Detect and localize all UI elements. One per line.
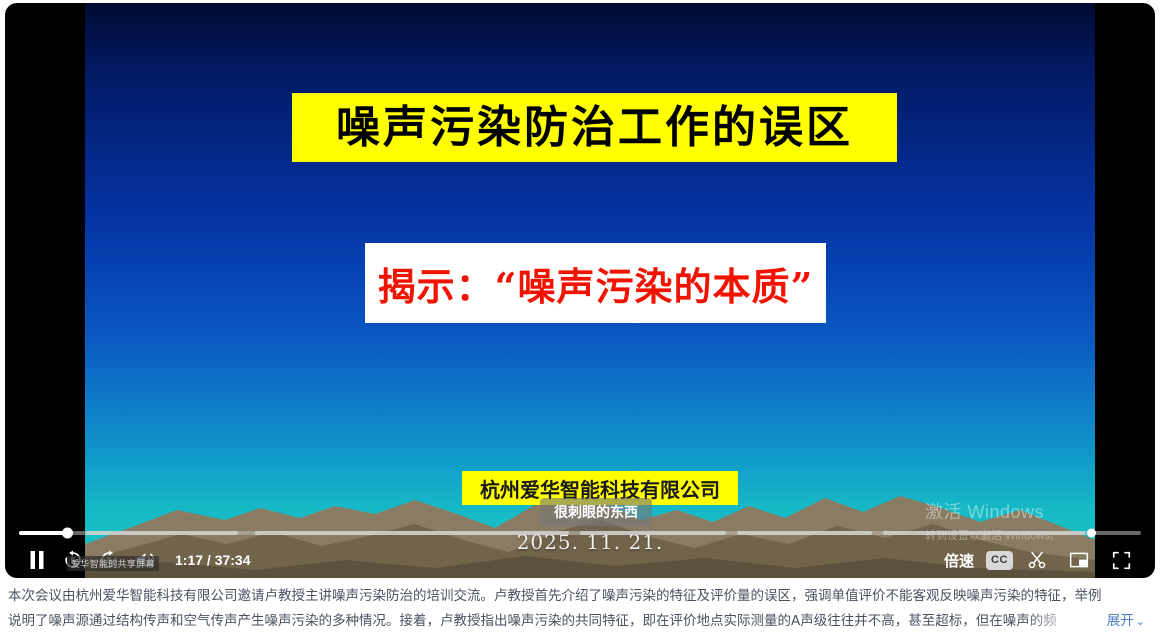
- progress-knob[interactable]: [62, 528, 73, 539]
- shared-screen-tag: 爱华智能的共享屏幕: [67, 556, 159, 571]
- pause-button[interactable]: [19, 544, 55, 576]
- video-slide: 噪声污染防治工作的误区 揭示：“噪声污染的本质” 杭州爱华智能科技有限公司 很刺…: [85, 3, 1095, 578]
- slide-subtitle-text: 揭示：“噪声污染的本质”: [378, 256, 814, 311]
- slide-title-banner: 噪声污染防治工作的误区: [292, 93, 897, 162]
- chapter-marker-dot[interactable]: [1087, 529, 1096, 538]
- expand-label: 展开: [1107, 613, 1134, 629]
- progress-segment: [86, 531, 237, 535]
- slide-title-text: 噪声污染防治工作的误区: [336, 106, 853, 150]
- slide-subtitle-banner: 揭示：“噪声污染的本质”: [365, 243, 826, 323]
- description-line-2: 说明了噪声源通过结构传声和空气传声产生噪声污染的多种情况。接着，卢教授指出噪声污…: [8, 613, 1057, 629]
- progress-bar[interactable]: [19, 526, 1141, 540]
- windows-activation-title: 激活 Windows: [925, 498, 1061, 524]
- progress-fill: [19, 531, 67, 535]
- player-control-bar[interactable]: 5 5 1:17 / 3: [5, 526, 1155, 578]
- chevron-down-icon: ⌄: [1136, 615, 1145, 628]
- progress-segment: [580, 531, 726, 535]
- closed-caption-button[interactable]: CC: [986, 551, 1013, 570]
- description-line-1: 本次会议由杭州爱华智能科技有限公司邀请卢教授主讲噪声污染防治的培训交流。卢教授首…: [8, 584, 1153, 609]
- scissors-clip-icon[interactable]: [1019, 544, 1055, 576]
- progress-segment: [255, 531, 569, 535]
- progress-segment: [737, 531, 872, 535]
- playback-speed-button[interactable]: 倍速: [938, 548, 980, 573]
- time-display: 1:17 / 37:34: [175, 552, 251, 568]
- video-description: 本次会议由杭州爱华智能科技有限公司邀请卢教授主讲噪声污染防治的培训交流。卢教授首…: [0, 584, 1161, 634]
- picture-in-picture-icon[interactable]: [1061, 544, 1097, 576]
- fullscreen-icon[interactable]: [1103, 544, 1139, 576]
- player-right-controls: 倍速 CC: [938, 544, 1155, 576]
- danmaku-comment: 很刺眼的东西: [540, 498, 652, 526]
- progress-track[interactable]: [19, 531, 1141, 535]
- video-player[interactable]: 噪声污染防治工作的误区 揭示：“噪声污染的本质” 杭州爱华智能科技有限公司 很刺…: [5, 3, 1155, 578]
- expand-description-button[interactable]: 展开⌄: [1101, 609, 1145, 634]
- progress-segment: [883, 531, 1085, 535]
